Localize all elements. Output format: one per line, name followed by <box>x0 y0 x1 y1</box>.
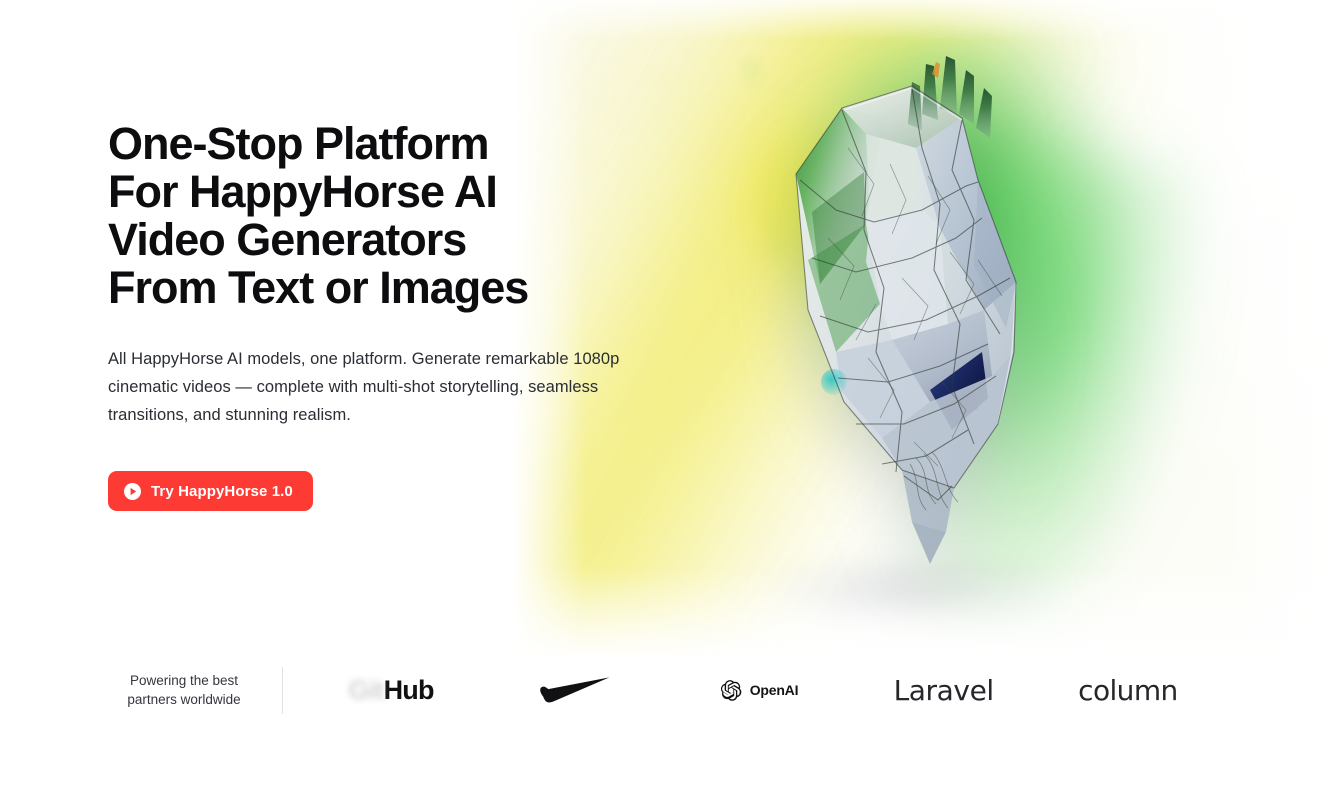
partner-logo-laravel[interactable]: Laravel <box>852 660 1036 720</box>
partners-strip: Powering the best partners worldwide Git… <box>108 660 1220 720</box>
github-wordmark-dim: Git <box>349 675 384 706</box>
column-wordmark: column <box>1078 674 1177 707</box>
cta-label: Try HappyHorse 1.0 <box>151 483 293 500</box>
try-happyhorse-button[interactable]: Try HappyHorse 1.0 <box>108 471 313 511</box>
crystal-artwork <box>716 52 1076 612</box>
openai-rosette-icon <box>721 680 742 701</box>
page-title: One-Stop Platform For HappyHorse AI Vide… <box>108 120 668 312</box>
hero-copy: One-Stop Platform For HappyHorse AI Vide… <box>108 120 668 511</box>
partner-logo-column[interactable]: column <box>1036 660 1220 720</box>
github-wordmark-bright: Hub <box>384 675 434 706</box>
partner-logo-openai[interactable]: OpenAI <box>667 660 851 720</box>
cta-row: Try HappyHorse 1.0 <box>108 471 668 511</box>
partner-logo-nike[interactable] <box>483 660 667 720</box>
partner-logo-github[interactable]: GitHub <box>299 660 483 720</box>
partners-label: Powering the best partners worldwide <box>108 671 260 709</box>
openai-wordmark: OpenAI <box>750 682 799 698</box>
hero-page: One-Stop Platform For HappyHorse AI Vide… <box>0 0 1328 793</box>
hero-subheading: All HappyHorse AI models, one platform. … <box>108 345 628 429</box>
laravel-wordmark: Laravel <box>894 674 994 707</box>
nike-swoosh-icon <box>540 677 610 703</box>
play-circle-icon <box>124 483 141 500</box>
partners-logo-list: GitHub OpenAI <box>283 660 1220 720</box>
